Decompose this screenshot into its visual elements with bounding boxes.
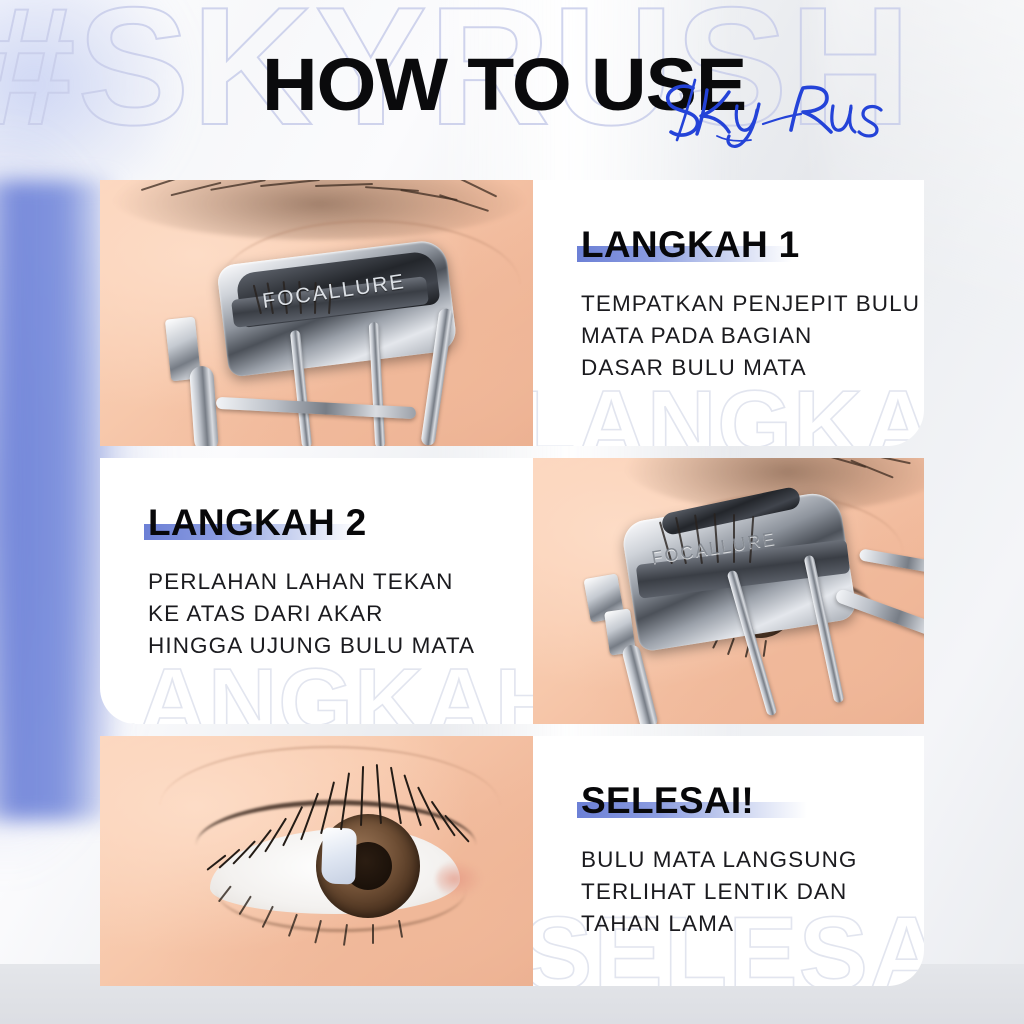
step-3-heading: SELESAI! [581,782,754,819]
step-1-heading: LANGKAH 1 [581,226,800,263]
step-1-body-line: MATA PADA BAGIAN [581,320,920,352]
step-3-body-line: TAHAN LAMA [581,908,858,940]
step-2-body-line: PERLAHAN LAHAN TEKAN [148,566,475,598]
step-1-photo: FOCALLURE [100,180,533,446]
step-3-photo [100,736,533,986]
lower-lid-line [216,848,466,932]
step-1-body-line: DASAR BULU MATA [581,352,920,384]
step-1-panel: LANGKAH 1 LANGKAH 1 TEMPATKAN PENJEPIT B… [533,180,924,446]
step-row-2: LANGKAH 2 LANGKAH 2 PERLAHAN LAHAN TEKAN… [100,458,924,724]
step-3-panel: SELESAI! SELESAI! BULU MATA LANGSUNG TER… [533,736,924,986]
steps-grid: FOCALLURE LANGKAH 1 LANGKAH 1 TEMPATKAN … [0,0,1024,1024]
step-row-3: SELESAI! SELESAI! BULU MATA LANGSUNG TER… [100,736,924,986]
step-3-body-line: TERLIHAT LENTIK DAN [581,876,858,908]
step-2-heading: LANGKAH 2 [148,504,367,541]
step-3-body: BULU MATA LANGSUNG TERLIHAT LENTIK DAN T… [581,844,858,940]
step-row-1: FOCALLURE LANGKAH 1 LANGKAH 1 TEMPATKAN … [100,180,924,446]
step-2-panel: LANGKAH 2 LANGKAH 2 PERLAHAN LAHAN TEKAN… [100,458,533,724]
step-2-body-line: KE ATAS DARI AKAR [148,598,475,630]
lower-lash [372,924,374,944]
step-2-body-line: HINGGA UJUNG BULU MATA [148,630,475,662]
step-2-photo: FOCALLURE [533,458,924,724]
step-3-body-line: BULU MATA LANGSUNG [581,844,858,876]
step-2-body: PERLAHAN LAHAN TEKAN KE ATAS DARI AKAR H… [148,566,475,662]
step-1-body-line: TEMPATKAN PENJEPIT BULU [581,288,920,320]
step-1-body: TEMPATKAN PENJEPIT BULU MATA PADA BAGIAN… [581,288,920,384]
